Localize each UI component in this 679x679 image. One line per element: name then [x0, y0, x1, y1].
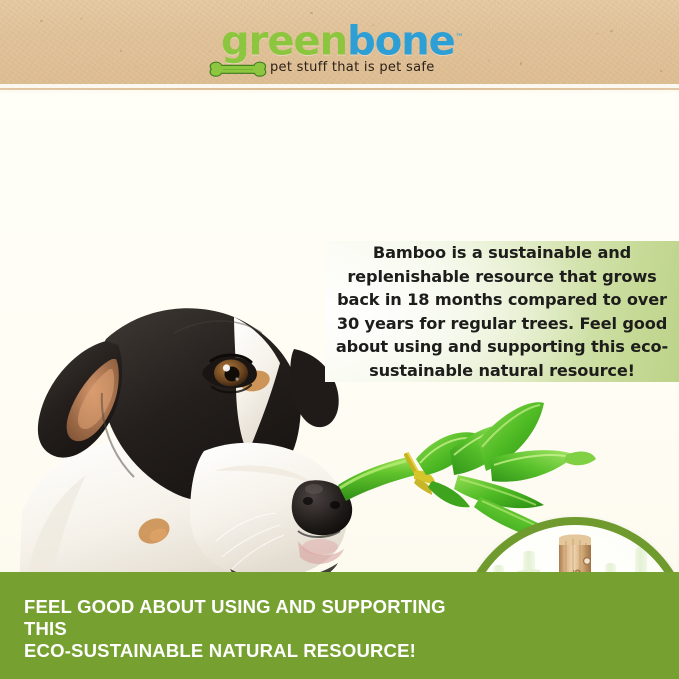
paper-fleck — [660, 70, 662, 72]
bottom-banner: FEEL GOOD ABOUT USING AND SUPPORTING THI… — [0, 572, 679, 679]
callout-panel: Bamboo is a sustainable and replenishabl… — [325, 241, 679, 382]
product-inset[interactable]: greenbone — [459, 517, 679, 579]
paper-fleck — [40, 20, 43, 22]
logo-word-blue: bone — [347, 18, 455, 64]
paper-fleck — [520, 62, 522, 65]
paper-fleck — [310, 12, 313, 14]
kraft-header: greenbone™ pet stuff that is pet safe — [0, 0, 679, 84]
brand-tagline: pet stuff that is pet safe — [270, 60, 435, 75]
paper-fleck — [610, 30, 613, 32]
trademark-symbol: ™ — [455, 33, 463, 43]
logo-word-green: green — [221, 18, 347, 64]
logo-wordmark: greenbone™ — [221, 16, 463, 63]
brand-logo[interactable]: greenbone™ pet stuff that is pet safe — [205, 16, 465, 78]
banner-line-2: ECO-SUSTAINABLE NATURAL RESOURCE! — [24, 640, 494, 662]
dog-photo — [8, 213, 378, 579]
banner-line-1: FEEL GOOD ABOUT USING AND SUPPORTING THI… — [24, 596, 494, 640]
banner-text: FEEL GOOD ABOUT USING AND SUPPORTING THI… — [24, 596, 494, 662]
paper-fleck — [120, 50, 122, 52]
product-infographic: greenbone™ pet stuff that is pet safe — [0, 0, 679, 679]
callout-text: Bamboo is a sustainable and replenishabl… — [325, 241, 679, 382]
hero-photo: greenbone — [0, 93, 679, 579]
